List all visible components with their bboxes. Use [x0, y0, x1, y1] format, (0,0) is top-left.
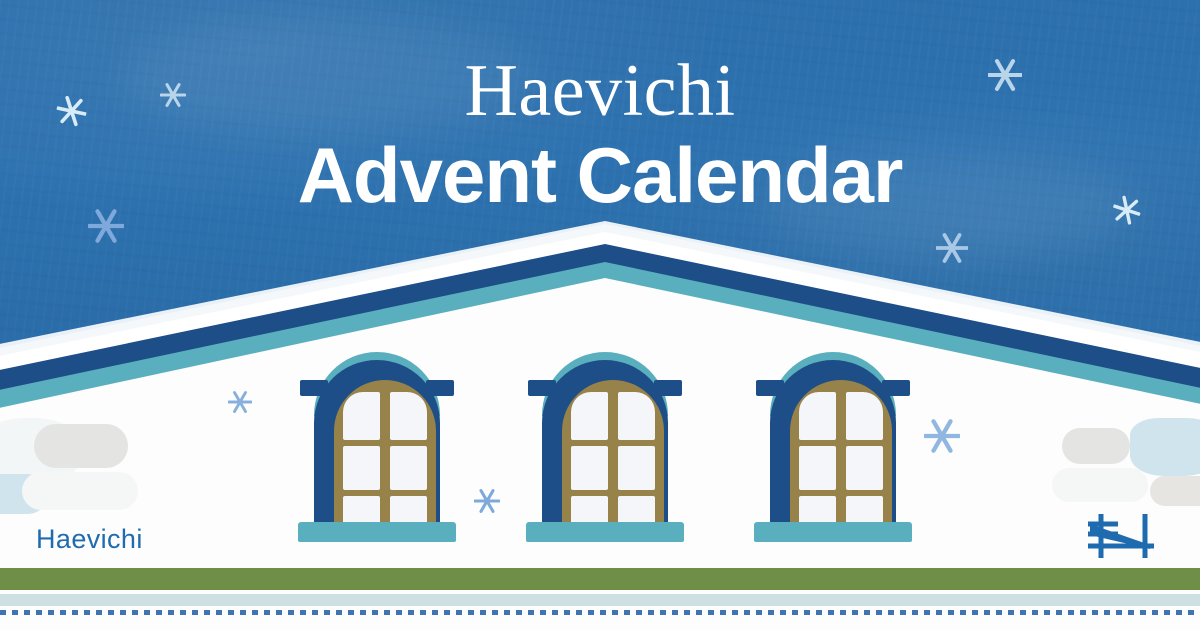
window-pane-mid-left — [343, 446, 380, 490]
window-outer-frame — [314, 360, 440, 534]
window-pane-mid-right — [846, 446, 883, 490]
window-pane-top-right — [618, 392, 655, 440]
window-left[interactable] — [306, 352, 448, 542]
window-outer-frame — [542, 360, 668, 534]
snowflake-wall-1 — [228, 390, 252, 419]
grass-band — [0, 568, 1200, 590]
window-pane-top-left — [799, 392, 836, 440]
title-brand-line: Haevichi — [0, 52, 1200, 130]
window-inner-frame — [790, 380, 892, 542]
window-pane-mid-right — [618, 446, 655, 490]
ice-band — [0, 594, 1200, 606]
window-outer-frame — [770, 360, 896, 534]
mound-left-2 — [34, 424, 128, 468]
h-mark-svg — [1084, 508, 1160, 564]
snowflake-wall-3 — [924, 418, 960, 459]
window-inner-frame — [334, 380, 436, 542]
window-right[interactable] — [762, 352, 904, 542]
window-pane-top-right — [846, 392, 883, 440]
snowflake-glyph — [474, 488, 500, 514]
window-sill — [298, 522, 456, 542]
mound-right-2 — [1130, 418, 1200, 476]
haevichi-h-mark-icon[interactable] — [1084, 508, 1160, 564]
dashed-snow-line — [0, 610, 1200, 615]
mound-left-4 — [22, 472, 138, 510]
advent-calendar-banner: Haevichi Advent Calendar — [0, 0, 1200, 630]
snowflake-wall-2 — [474, 488, 500, 519]
window-sill — [526, 522, 684, 542]
title-main-line: Advent Calendar — [0, 132, 1200, 218]
window-sill — [754, 522, 912, 542]
title-block: Haevichi Advent Calendar — [0, 52, 1200, 218]
snowflake-glyph — [924, 418, 960, 454]
window-pane-top-left — [343, 392, 380, 440]
window-center[interactable] — [534, 352, 676, 542]
window-pane-top-right — [390, 392, 427, 440]
window-pane-mid-left — [571, 446, 608, 490]
mound-right-1 — [1062, 428, 1130, 464]
snowflake-glyph — [228, 390, 252, 414]
window-pane-top-left — [571, 392, 608, 440]
window-pane-mid-right — [390, 446, 427, 490]
window-pane-mid-left — [799, 446, 836, 490]
window-inner-frame — [562, 380, 664, 542]
mound-right-4 — [1150, 476, 1200, 506]
mound-right-3 — [1052, 468, 1148, 502]
brand-wordmark[interactable]: Haevichi — [36, 524, 143, 555]
